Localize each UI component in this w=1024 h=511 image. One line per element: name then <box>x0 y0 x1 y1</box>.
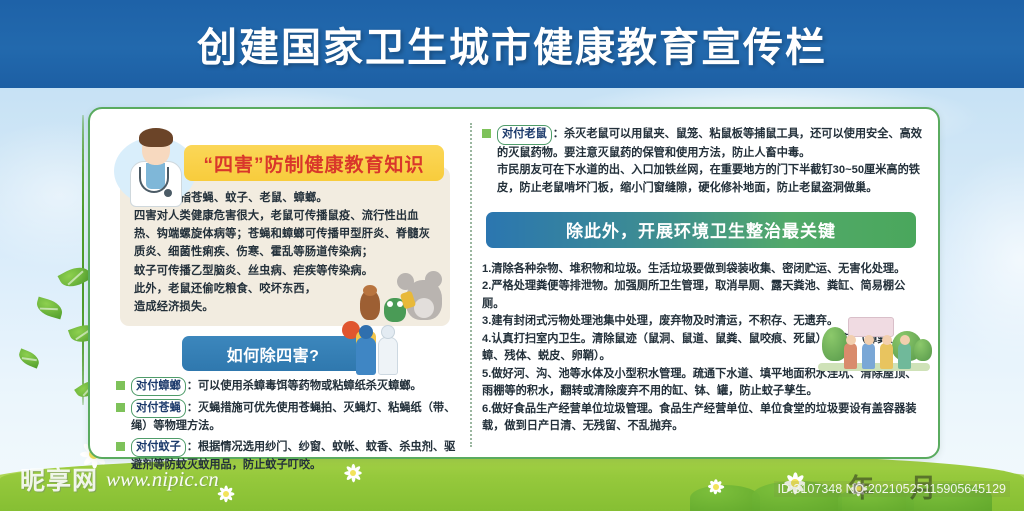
poster-canvas: 创建国家卫生城市健康教育宣传栏 <box>0 0 1024 511</box>
leaf-icon <box>34 297 64 320</box>
pest-cartoon-illustration <box>356 266 444 324</box>
person-figure <box>880 343 893 369</box>
cloud-decoration <box>930 150 1024 370</box>
numbered-item: 6.做好食品生产经营单位垃圾管理。食品生产经营单位、单位食堂的垃圾要设有盖容器装… <box>482 401 926 436</box>
square-bullet-icon <box>116 442 125 451</box>
bullet-content: 对付蟑螂：可以使用杀蟑毒饵等药物或粘蟑纸杀灭蟑螂。 <box>131 377 422 396</box>
cockroach-head <box>363 285 377 296</box>
mouse-ear <box>397 273 414 290</box>
section-title-text: “四害”防制健康教育知识 <box>203 150 424 177</box>
green-banner-environment: 除此外，开展环境卫生整治最关键 <box>486 212 916 248</box>
bullet-tag: 对付蚊子 <box>131 438 186 457</box>
section-title-badge: “四害”防制健康教育知识 <box>184 145 444 181</box>
square-bullet-icon <box>482 129 491 138</box>
bullet-tag: 对付蟑螂 <box>131 377 186 396</box>
rodent-section: 对付老鼠：杀灭老鼠可以用鼠夹、鼠笼、粘鼠板等捕鼠工具，还可以使用安全、高效的灭鼠… <box>482 125 926 162</box>
fly-eye <box>387 301 393 307</box>
community-cleanup-illustration <box>818 315 930 371</box>
person-figure <box>862 343 875 369</box>
bullet-content: 对付苍蝇：灭蝇措施可优先使用苍蝇拍、灭蝇灯、粘蝇纸（带、绳）等物理方法。 <box>131 399 456 435</box>
person-head <box>900 335 910 345</box>
worker-body-white <box>378 337 398 375</box>
square-bullet-icon <box>116 403 125 412</box>
header-banner: 创建国家卫生城市健康教育宣传栏 <box>0 0 1024 88</box>
worker-body-blue <box>356 337 376 375</box>
numbered-item: 5.做好河、沟、池等水体及小型积水管理。疏通下水道、填平地面积水洼坑、清除屋顶、… <box>482 366 926 401</box>
intro-paragraph: 四害对人类健康危害很大，老鼠可传播鼠疫、流行性出血热、钩端螺旋体病等；苍蝇和蟑螂… <box>134 207 436 261</box>
green-banner-text: 除此外，开展环境卫生整治最关键 <box>566 217 836 242</box>
square-bullet-icon <box>116 381 125 390</box>
vine-decoration <box>82 115 84 405</box>
mouse-belly <box>414 298 434 318</box>
mouse-ear <box>425 271 442 288</box>
worker-head-blue <box>359 325 373 339</box>
numbered-item: 1.清除各种杂物、堆积物和垃圾。生活垃圾要做到袋装收集、密闭贮运、无害化处理。 <box>482 261 926 278</box>
leaf-icon <box>16 348 41 368</box>
watermark-url: www.nipic.cn <box>106 467 219 492</box>
daisy-flower-icon <box>705 476 727 498</box>
watermark-logo: 昵享网 <box>20 461 98 497</box>
column-divider <box>470 123 472 447</box>
person-figure <box>844 343 857 369</box>
left-column: “四害”防制健康教育知识 “四害”是指苍蝇、蚊子、老鼠、蟑螂。 四害对人类健康危… <box>106 121 458 449</box>
content-panel: “四害”防制健康教育知识 “四害”是指苍蝇、蚊子、老鼠、蟑螂。 四害对人类健康危… <box>88 107 940 459</box>
bullet-tag: 对付苍蝇 <box>131 399 186 418</box>
stethoscope-bell-icon <box>164 189 172 197</box>
sub-banner-how-to: 如何除四害? <box>182 336 364 371</box>
bullet-body: ：可以使用杀蟑毒饵等药物或粘蟑纸杀灭蟑螂。 <box>187 380 422 392</box>
rodent-paragraph: 市民朋友可在下水道的出、入口加铁丝网，在重要地方的门下半截钉30~50厘米高的铁… <box>482 162 926 197</box>
cleanup-wall <box>848 317 894 337</box>
person-head <box>864 335 874 345</box>
doctor-hair <box>139 128 173 147</box>
numbered-measures-list: 1.清除各种杂物、堆积物和垃圾。生活垃圾要做到袋装收集、密闭贮运、无害化处理。 … <box>482 261 926 436</box>
disinfection-workers-illustration <box>342 319 408 375</box>
right-column: 对付老鼠：杀灭老鼠可以用鼠夹、鼠笼、粘鼠板等捕鼠工具，还可以使用安全、高效的灭鼠… <box>482 125 926 447</box>
numbered-item: 2.严格处理粪便等排泄物。加强厕所卫生管理，取消旱厕、露天粪池、粪缸、简易棚公厕… <box>482 278 926 313</box>
tree-icon <box>914 339 932 361</box>
watermark: 昵享网 www.nipic.cn <box>20 461 219 497</box>
page-title: 创建国家卫生城市健康教育宣传栏 <box>197 15 827 73</box>
image-id-text: ID:3107348 NO:20210525115905645129 <box>774 481 1010 497</box>
person-figure <box>898 343 911 369</box>
person-head <box>846 335 856 345</box>
daisy-core <box>713 484 719 490</box>
person-head <box>882 335 892 345</box>
rodent-tag: 对付老鼠 <box>497 125 552 145</box>
rodent-text: ：杀灭老鼠可以用鼠夹、鼠笼、粘鼠板等捕鼠工具，还可以使用安全、高效的灭鼠药物。要… <box>497 128 922 159</box>
list-item: 对付蟑螂：可以使用杀蟑毒饵等药物或粘蟑纸杀灭蟑螂。 <box>116 377 456 396</box>
sub-banner-text: 如何除四害? <box>227 342 320 366</box>
rodent-paragraph: 对付老鼠：杀灭老鼠可以用鼠夹、鼠笼、粘鼠板等捕鼠工具，还可以使用安全、高效的灭鼠… <box>497 125 926 162</box>
worker-head-white <box>381 325 395 339</box>
list-item: 对付苍蝇：灭蝇措施可优先使用苍蝇拍、灭蝇灯、粘蝇纸（带、绳）等物理方法。 <box>116 399 456 435</box>
